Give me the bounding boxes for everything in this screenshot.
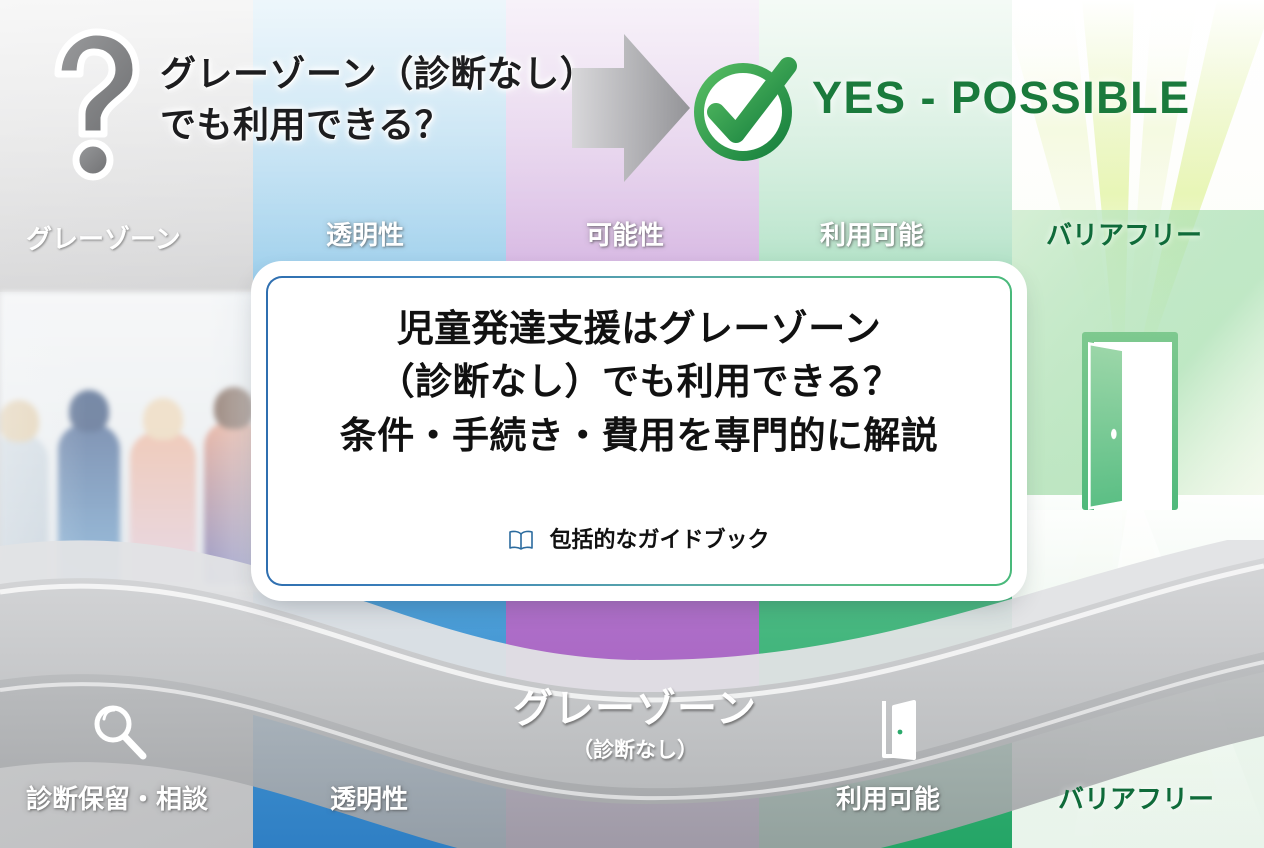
band-caption-upper-2: 透明性 bbox=[326, 222, 404, 248]
card-title-line-1: 児童発達支援はグレーゾーン bbox=[260, 302, 1018, 355]
band-caption-upper-5: バリアフリー bbox=[1046, 222, 1202, 248]
open-book-icon bbox=[508, 529, 534, 557]
header-headline: グレーゾーン（診断なし） でも利用できる？ bbox=[160, 48, 630, 150]
band-caption-lower-1: 診断保留・相談 bbox=[26, 786, 208, 812]
card-subtitle-text: 包括的なガイドブック bbox=[550, 527, 770, 552]
open-door-icon bbox=[880, 698, 926, 762]
headline-line-2: でも利用できる？ bbox=[160, 99, 630, 150]
title-card: 児童発達支援はグレーゾーン （診断なし）でも利用できる？ 条件・手続き・費用を専… bbox=[260, 270, 1018, 592]
band-caption-lower-3: 利用可能 bbox=[836, 786, 940, 812]
band-caption-upper-4: 利用可能 bbox=[820, 222, 924, 248]
door-leaf bbox=[1088, 342, 1124, 510]
question-mark-icon bbox=[38, 26, 148, 186]
right-arrow-icon bbox=[572, 28, 692, 188]
card-subtitle-row: 包括的なガイドブック bbox=[260, 522, 1018, 557]
ribbon-label-main: グレーゾーン bbox=[470, 688, 800, 730]
ribbon-label-sub: （診断なし） bbox=[470, 734, 800, 764]
band-caption-upper-1: グレーゾーン bbox=[26, 226, 181, 252]
headline-line-1: グレーゾーン（診断なし） bbox=[160, 48, 630, 99]
card-title: 児童発達支援はグレーゾーン （診断なし）でも利用できる？ 条件・手続き・費用を専… bbox=[260, 302, 1018, 462]
magnifier-icon bbox=[88, 700, 150, 762]
poster-canvas: グレーゾーン（診断なし） でも利用できる？ bbox=[0, 0, 1264, 848]
band-caption-lower-4: バリアフリー bbox=[1058, 786, 1214, 812]
card-title-line-2: （診断なし）でも利用できる？ bbox=[260, 355, 1018, 408]
door-knob-icon bbox=[1111, 429, 1117, 439]
verdict-text: YES - POSSIBLE bbox=[812, 72, 1191, 124]
card-title-line-3: 条件・手続き・費用を専門的に解説 bbox=[260, 409, 1018, 462]
ribbon-label: グレーゾーン （診断なし） bbox=[470, 688, 800, 764]
band-caption-upper-3: 可能性 bbox=[586, 222, 664, 248]
band-caption-lower-2: 透明性 bbox=[330, 786, 408, 812]
check-circle-icon bbox=[684, 50, 802, 168]
open-door-illustration bbox=[1082, 332, 1178, 510]
